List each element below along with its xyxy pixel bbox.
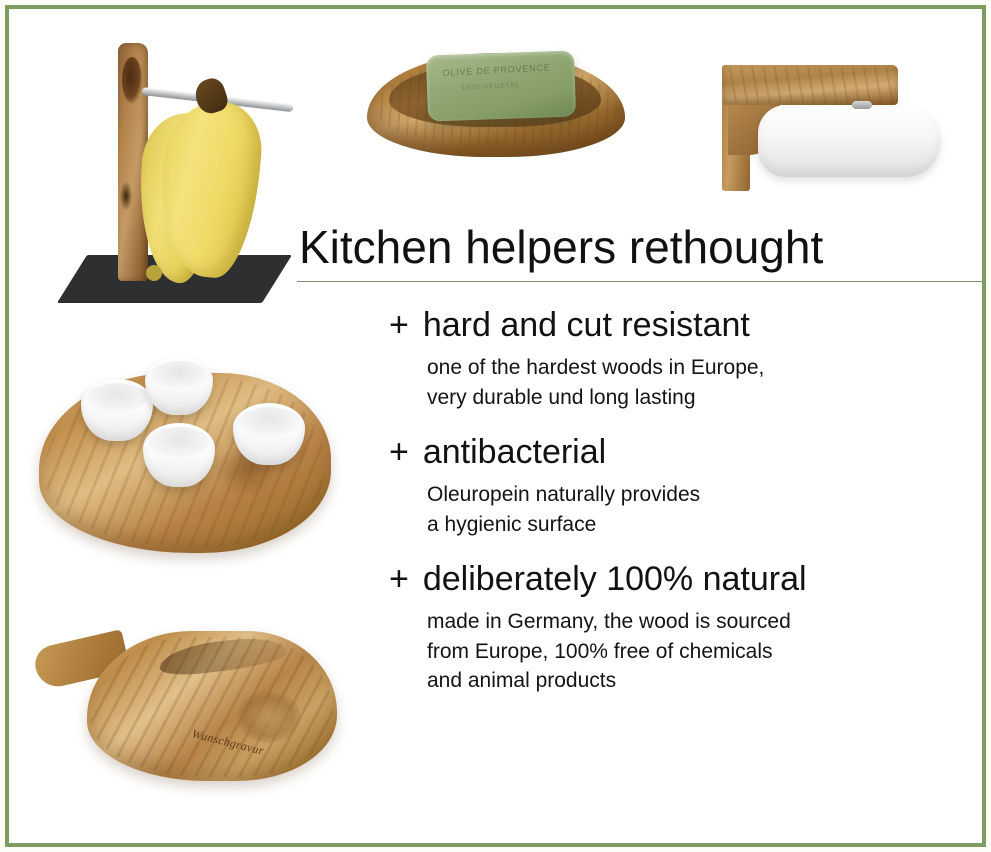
feature-description: one of the hardest woods in Europe, very… [427,353,986,413]
roll-holder-screw-icon [852,101,872,109]
soap-bar-text-line2: 100% VEGETAL [461,82,520,92]
feature-heading-row: + hard and cut resistant [389,306,986,345]
soap-dish-photo: OLIVE DE PROVENCE 100% VEGETAL [367,39,627,169]
feature-description-line: very durable und long lasting [427,383,986,413]
kitchen-roll-holder-photo [714,57,964,207]
feature-description-line: from Europe, 100% free of chemicals [427,637,986,667]
feature-description-line: made in Germany, the wood is sourced [427,607,986,637]
wood-knot-icon [122,57,142,103]
feature-item: + antibacterial Oleuropein naturally pro… [291,433,986,540]
feature-item: + hard and cut resistant one of the hard… [291,306,986,413]
banana-tip [146,265,162,281]
feature-heading-row: + deliberately 100% natural [389,560,986,599]
feature-item: + deliberately 100% natural made in Germ… [291,560,986,697]
feature-description-line: Oleuropein naturally provides [427,480,986,510]
porcelain-bowl [145,357,213,415]
plus-icon: + [389,306,409,345]
content-column: Kitchen helpers rethought + hard and cut… [291,223,986,708]
title-divider [297,281,986,282]
plus-icon: + [389,560,409,599]
feature-description: made in Germany, the wood is sourced fro… [427,607,986,696]
feature-heading: hard and cut resistant [423,306,750,345]
soap-bar: OLIVE DE PROVENCE 100% VEGETAL [426,50,576,121]
feature-heading: deliberately 100% natural [423,560,807,599]
paper-towel-roll [758,105,940,177]
soap-bar-text-line1: OLIVE DE PROVENCE [442,62,551,78]
bowl-board-photo [39,349,334,579]
product-infographic-page: OLIVE DE PROVENCE 100% VEGETAL [0,0,991,852]
feature-description: Oleuropein naturally provides a hygienic… [427,480,986,540]
feature-heading-row: + antibacterial [389,433,986,472]
page-title: Kitchen helpers rethought [299,223,986,271]
feature-heading: antibacterial [423,433,606,472]
feature-description-line: and animal products [427,666,986,696]
white-canvas: OLIVE DE PROVENCE 100% VEGETAL [9,9,982,843]
feature-description-line: one of the hardest woods in Europe, [427,353,986,383]
feature-description-line: a hygienic surface [427,510,986,540]
porcelain-bowl [143,423,215,487]
wood-knot-secondary-icon [120,182,132,210]
porcelain-bowl [81,379,153,441]
banana-holder-photo [54,27,299,322]
roll-holder-wood-grain [724,67,896,103]
plus-icon: + [389,433,409,472]
green-border-frame: OLIVE DE PROVENCE 100% VEGETAL [5,5,986,847]
